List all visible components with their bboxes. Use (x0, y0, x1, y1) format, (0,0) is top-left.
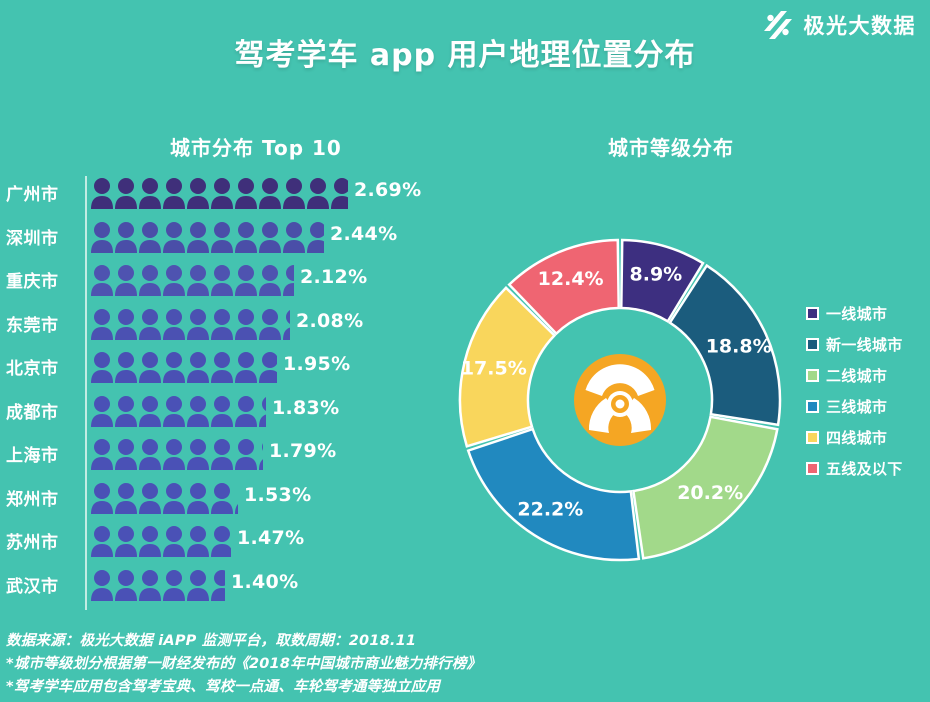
person-icon (211, 177, 234, 209)
pictogram-row-value: 1.95% (283, 353, 350, 375)
person-icon (91, 482, 114, 514)
pictogram-row-label: 深圳市 (6, 224, 78, 249)
person-icon (115, 177, 138, 209)
pictogram-row: 武汉市1.40% (0, 564, 430, 608)
legend-item-label: 一线城市 (826, 303, 887, 324)
legend-item-label: 二线城市 (826, 365, 887, 386)
person-icon (91, 308, 114, 340)
pictogram-row-label: 武汉市 (6, 572, 78, 597)
donut-slice-label: 22.2% (517, 498, 583, 520)
pictogram-row-value: 1.83% (272, 397, 339, 419)
pictogram-row-icons (91, 308, 291, 342)
city-tier-legend: 一线城市新一线城市二线城市三线城市四线城市五线及以下 (806, 298, 930, 484)
footnote-tier-definition: *城市等级划分根据第一财经发布的《2018年中国城市商业魅力排行榜》 (6, 653, 706, 676)
person-icon (163, 221, 186, 253)
person-icon (139, 438, 162, 470)
person-icon (163, 264, 186, 296)
person-icon (91, 177, 114, 209)
person-icon (163, 308, 186, 340)
person-icon (259, 221, 282, 253)
person-icon (163, 351, 186, 383)
person-icon (211, 525, 231, 557)
pictogram-row-value: 2.44% (330, 223, 397, 245)
person-icon (91, 438, 114, 470)
person-icon (283, 221, 306, 253)
person-icon (139, 308, 162, 340)
pictogram-row-icons (91, 525, 232, 559)
person-icon (115, 438, 138, 470)
legend-item-label: 新一线城市 (826, 334, 903, 355)
person-icon (91, 569, 114, 601)
footnotes: 数据来源：极光大数据 iAPP 监测平台，取数周期：2018.11 *城市等级划… (6, 630, 706, 699)
pictogram-row-value: 1.53% (244, 484, 311, 506)
pictogram-row-label: 重庆市 (6, 267, 78, 292)
person-icon (235, 438, 258, 470)
pictogram-row-icons (91, 264, 295, 298)
pictogram-row: 郑州市1.53% (0, 477, 430, 521)
pictogram-row: 苏州市1.47% (0, 520, 430, 564)
person-icon (139, 264, 162, 296)
person-icon (259, 177, 282, 209)
footnote-source: 数据来源：极光大数据 iAPP 监测平台，取数周期：2018.11 (6, 630, 706, 653)
person-icon (91, 221, 114, 253)
person-icon (187, 395, 210, 427)
person-icon (115, 525, 138, 557)
person-icon (91, 264, 114, 296)
person-icon (187, 482, 210, 514)
pictogram-row-icons (91, 221, 325, 255)
person-icon (259, 438, 263, 470)
footnote-app-scope: *驾考学车应用包含驾考宝典、驾校一点通、车轮驾考通等独立应用 (6, 676, 706, 699)
pictogram-row: 成都市1.83% (0, 390, 430, 434)
person-icon (331, 177, 348, 209)
pictogram-row-label: 东莞市 (6, 311, 78, 336)
city-tier-distribution-title: 城市等级分布 (608, 132, 734, 161)
pictogram-row-icons (91, 438, 264, 472)
person-icon (211, 482, 234, 514)
pictogram-row-value: 2.08% (296, 310, 363, 332)
person-icon (235, 221, 258, 253)
person-icon (163, 177, 186, 209)
person-icon (211, 395, 234, 427)
person-icon (283, 308, 290, 340)
person-icon (91, 525, 114, 557)
pictogram-row-icons (91, 351, 278, 385)
pictogram-row-value: 2.12% (300, 266, 367, 288)
pictogram-row-label: 苏州市 (6, 528, 78, 553)
pictogram-row-icons (91, 569, 226, 603)
person-icon (139, 351, 162, 383)
person-icon (163, 482, 186, 514)
pictogram-row-value: 2.69% (354, 179, 421, 201)
person-icon (235, 308, 258, 340)
pictogram-row-label: 上海市 (6, 441, 78, 466)
person-icon (259, 264, 282, 296)
person-icon (235, 482, 238, 514)
person-icon (211, 221, 234, 253)
person-icon (235, 264, 258, 296)
person-icon (115, 264, 138, 296)
pictogram-row-icons (91, 395, 267, 429)
person-icon (235, 395, 258, 427)
person-icon (187, 264, 210, 296)
person-icon (259, 395, 266, 427)
pictogram-row: 深圳市2.44% (0, 216, 430, 260)
donut-slice-label: 12.4% (538, 268, 604, 290)
donut-slice-label: 18.8% (706, 335, 772, 357)
person-icon (115, 569, 138, 601)
person-icon (91, 351, 114, 383)
person-icon (139, 569, 162, 601)
legend-item[interactable]: 三线城市 (806, 391, 930, 422)
person-icon (139, 482, 162, 514)
person-icon (307, 221, 324, 253)
pictogram-row-label: 北京市 (6, 354, 78, 379)
legend-item[interactable]: 五线及以下 (806, 453, 930, 484)
person-icon (211, 351, 234, 383)
person-icon (115, 308, 138, 340)
legend-swatch-icon (806, 400, 819, 413)
person-icon (187, 525, 210, 557)
person-icon (259, 351, 277, 383)
person-icon (187, 351, 210, 383)
legend-swatch-icon (806, 369, 819, 382)
pictogram-row-value: 1.79% (269, 440, 336, 462)
person-icon (211, 308, 234, 340)
legend-item-label: 四线城市 (826, 427, 887, 448)
city-tier-donut-chart: 8.9%18.8%20.2%22.2%17.5%12.4% (452, 232, 788, 568)
person-icon (235, 351, 258, 383)
person-icon (91, 395, 114, 427)
person-icon (163, 525, 186, 557)
pictogram-row-icons (91, 482, 239, 516)
person-icon (187, 221, 210, 253)
person-icon (211, 569, 225, 601)
legend-item-label: 五线及以下 (826, 458, 903, 479)
legend-item[interactable]: 四线城市 (806, 422, 930, 453)
city-distribution-title: 城市分布 Top 10 (170, 132, 342, 161)
person-icon (139, 177, 162, 209)
person-icon (139, 395, 162, 427)
person-icon (115, 221, 138, 253)
person-icon (163, 395, 186, 427)
donut-slice-label: 17.5% (461, 357, 527, 379)
page-header: 驾考学车 app 用户地理位置分布 极光大数据 (0, 0, 930, 88)
person-icon (139, 525, 162, 557)
person-icon (235, 177, 258, 209)
pictogram-row: 重庆市2.12% (0, 259, 430, 303)
legend-swatch-icon (806, 431, 819, 444)
person-icon (115, 482, 138, 514)
person-icon (163, 569, 186, 601)
brand-logo-text: 极光大数据 (804, 10, 917, 40)
pictogram-row-label: 郑州市 (6, 485, 78, 510)
person-icon (187, 308, 210, 340)
person-icon (259, 308, 282, 340)
pictogram-row: 东莞市2.08% (0, 303, 430, 347)
legend-item[interactable]: 新一线城市 (806, 329, 930, 360)
pictogram-row: 广州市2.69% (0, 172, 430, 216)
donut-slice-label: 8.9% (630, 264, 683, 286)
city-distribution-pictogram-chart: 广州市2.69%深圳市2.44%重庆市2.12%东莞市2.08%北京市1.95%… (0, 172, 430, 612)
donut-slice-label: 20.2% (677, 482, 743, 504)
pictogram-row-icons (91, 177, 349, 211)
pictogram-row-label: 广州市 (6, 180, 78, 205)
person-icon (283, 264, 294, 296)
pictogram-row-value: 1.47% (237, 527, 304, 549)
brand-logo: 极光大数据 (761, 8, 917, 42)
legend-item[interactable]: 二线城市 (806, 360, 930, 391)
person-icon (283, 177, 306, 209)
person-icon (187, 569, 210, 601)
legend-item-label: 三线城市 (826, 396, 887, 417)
legend-swatch-icon (806, 462, 819, 475)
pictogram-row: 北京市1.95% (0, 346, 430, 390)
legend-swatch-icon (806, 307, 819, 320)
donut-svg: 8.9%18.8%20.2%22.2%17.5%12.4% (452, 232, 788, 568)
person-icon (115, 351, 138, 383)
person-icon (115, 395, 138, 427)
pictogram-row-value: 1.40% (231, 571, 298, 593)
aurora-logo-mark-icon (761, 8, 795, 42)
person-icon (187, 177, 210, 209)
pictogram-row-label: 成都市 (6, 398, 78, 423)
person-icon (307, 177, 330, 209)
person-icon (163, 438, 186, 470)
person-icon (139, 221, 162, 253)
pictogram-row: 上海市1.79% (0, 433, 430, 477)
person-icon (211, 264, 234, 296)
legend-swatch-icon (806, 338, 819, 351)
person-icon (211, 438, 234, 470)
person-icon (187, 438, 210, 470)
legend-item[interactable]: 一线城市 (806, 298, 930, 329)
